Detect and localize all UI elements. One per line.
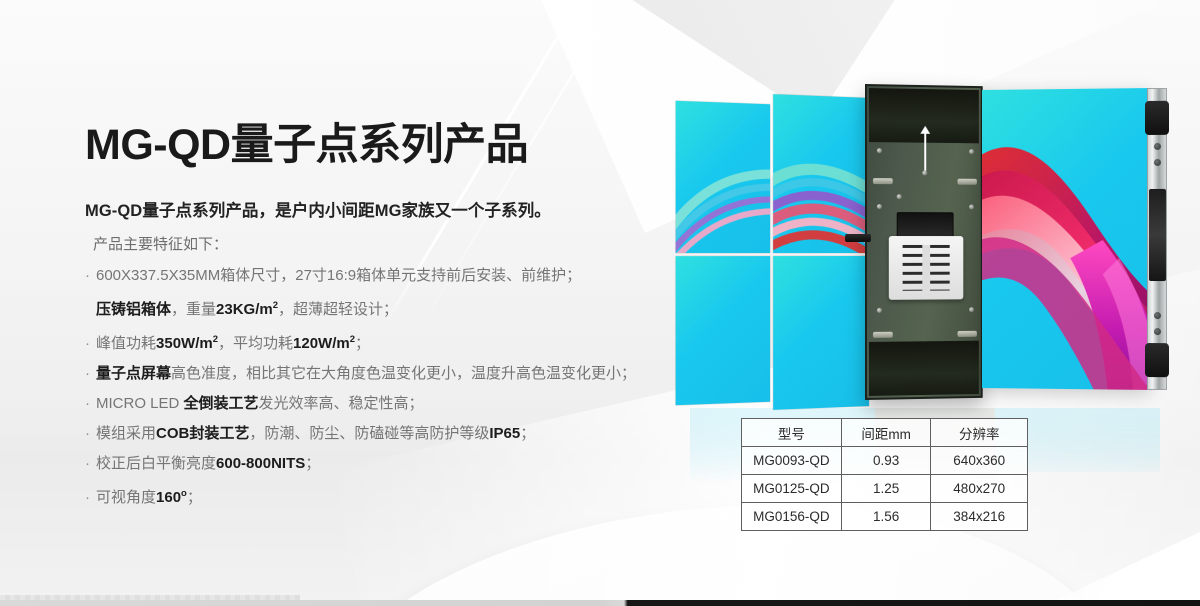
feature-text-emphasis: 全倒装工艺: [184, 395, 259, 412]
page-title: MG-QD量子点系列产品: [85, 124, 745, 167]
feature-item: ·峰值功耗350W/m2，平均功耗120W/m2；: [85, 325, 745, 359]
cell-pitch: 1.25: [841, 475, 931, 503]
cabinet-bottom-rail: [869, 341, 979, 396]
feature-text-plain: ，重量: [171, 301, 216, 318]
feature-text: 600X337.5X35MM箱体尺寸，27寸16:9箱体单元支持前后安装、前维护…: [96, 261, 581, 291]
table-row: MG0125-QD1.25480x270: [742, 475, 1028, 503]
orientation-arrow-icon: [924, 133, 926, 175]
mounting-bracket: [897, 212, 954, 238]
table-header-model: 型号: [742, 419, 842, 447]
spec-table: 型号 间距mm 分辨率 MG0093-QD0.93640x360MG0125-Q…: [741, 418, 1028, 531]
cell-pitch: 0.93: [841, 447, 931, 475]
feature-item: ·量子点屏幕高色准度，相比其它在大角度色温变化更小，温度升高色温变化更小；: [85, 359, 745, 389]
feature-text-plain: ，平均功耗: [218, 335, 293, 352]
feature-text: MICRO LED 全倒装工艺发光效率高、稳定性高；: [96, 389, 424, 419]
feature-text-emphasis: 600-800NITS: [216, 455, 305, 472]
feature-text: 可视角度160o；: [96, 479, 202, 513]
feature-text-plain: MICRO LED: [96, 395, 184, 412]
vent-slots: [903, 245, 950, 291]
cell-model: MG0156-QD: [742, 503, 842, 531]
cell-model: MG0125-QD: [742, 475, 842, 503]
bullet-dot-icon: ·: [85, 359, 96, 389]
led-panel-tile-2: [773, 94, 869, 253]
feature-text-emphasis: 压铸铝箱体: [96, 301, 171, 318]
text-content-block: MG-QD量子点系列产品 MG-QD量子点系列产品，是户内小间距MG家族又一个子…: [85, 124, 745, 513]
cell-resolution: 480x270: [931, 475, 1028, 503]
cabinet-handle: [845, 234, 871, 242]
frame-corner-block-bottom: [1145, 343, 1169, 377]
screen-wave-graphic: [982, 88, 1152, 390]
bullet-dot-icon: ·: [85, 261, 96, 291]
feature-text-plain: 模组采用: [96, 425, 156, 442]
feature-text-plain: 高色准度，相比其它在大角度色温变化更小，温度升高色温变化更小；: [171, 365, 636, 382]
feature-text-plain: 校正后白平衡亮度: [96, 455, 216, 472]
feature-text-plain: ，防潮、防尘、防磕碰等高防护等级: [249, 425, 489, 442]
feature-item: ·600X337.5X35MM箱体尺寸，27寸16:9箱体单元支持前后安装、前维…: [85, 261, 745, 291]
feature-text-emphasis: COB封装工艺: [156, 425, 249, 442]
table-header-row: 型号 间距mm 分辨率: [742, 419, 1028, 447]
feature-text: 压铸铝箱体，重量23KG/m2，超薄超轻设计；: [96, 291, 398, 325]
feature-text: 峰值功耗350W/m2，平均功耗120W/m2；: [96, 325, 370, 359]
power-supply-module: [889, 236, 964, 300]
cabinet-rear-view: [865, 84, 983, 400]
frame-connector-port: [1149, 189, 1166, 281]
bullet-dot-icon: ·: [85, 389, 96, 419]
features-list: ·600X337.5X35MM箱体尺寸，27寸16:9箱体单元支持前后安装、前维…: [85, 261, 745, 513]
bullet-dot-icon: ·: [85, 449, 96, 479]
page-canvas: MG-QD量子点系列产品 MG-QD量子点系列产品，是户内小间距MG家族又一个子…: [0, 0, 1200, 606]
feature-item: ·校正后白平衡亮度600-800NITS；: [85, 449, 745, 479]
led-panel-tile-4: [773, 256, 869, 410]
feature-text-plain: ；: [355, 335, 370, 352]
features-intro: 产品主要特征如下：: [93, 233, 745, 254]
table-header-pitch: 间距mm: [841, 419, 931, 447]
table-header-resolution: 分辨率: [931, 419, 1028, 447]
feature-text: 模组采用COB封装工艺，防潮、防尘、防磕碰等高防护等级IP65；: [96, 419, 535, 449]
feature-text-plain: 可视角度: [96, 489, 156, 506]
page-subtitle: MG-QD量子点系列产品，是户内小间距MG家族又一个子系列。: [85, 197, 745, 221]
cell-model: MG0093-QD: [742, 447, 842, 475]
feature-text-plain: ；: [520, 425, 535, 442]
bullet-dot-icon: ·: [85, 483, 96, 513]
feature-text-plain: ；: [305, 455, 320, 472]
feature-text-plain: ；: [187, 489, 202, 506]
feature-item: ·压铸铝箱体，重量23KG/m2，超薄超轻设计；: [85, 291, 745, 325]
cell-resolution: 384x216: [931, 503, 1028, 531]
table-row: MG0156-QD1.56384x216: [742, 503, 1028, 531]
feature-text: 校正后白平衡亮度600-800NITS；: [96, 449, 320, 479]
bullet-dot-icon: ·: [85, 419, 96, 449]
bullet-dot-icon: ·: [85, 329, 96, 359]
feature-text-emphasis: IP65: [489, 425, 520, 442]
feature-text-plain: 峰值功耗: [96, 335, 156, 352]
feature-text-emphasis: 量子点屏幕: [96, 365, 171, 382]
feature-text-plain: ，超薄超轻设计；: [278, 301, 398, 318]
feature-text-emphasis: 160: [156, 489, 181, 506]
cell-resolution: 640x360: [931, 447, 1028, 475]
frame-corner-block-top: [1145, 101, 1169, 135]
feature-text: 量子点屏幕高色准度，相比其它在大角度色温变化更小，温度升高色温变化更小；: [96, 359, 636, 389]
feature-item: ·MICRO LED 全倒装工艺发光效率高、稳定性高；: [85, 389, 745, 419]
feature-text-plain: 600X337.5X35MM箱体尺寸，27寸16:9箱体单元支持前后安装、前维护…: [96, 267, 581, 284]
feature-text-emphasis: 23KG/m: [216, 301, 273, 318]
feature-item: ·可视角度160o；: [85, 479, 745, 513]
led-display-main-panel: [982, 88, 1152, 390]
bottom-bar: [0, 600, 1200, 606]
feature-item: ·模组采用COB封装工艺，防潮、防尘、防磕碰等高防护等级IP65；: [85, 419, 745, 449]
feature-text-emphasis: 120W/m: [293, 335, 350, 352]
aluminium-frame-profile: [1147, 88, 1167, 390]
table-row: MG0093-QD0.93640x360: [742, 447, 1028, 475]
feature-text-plain: 发光效率高、稳定性高；: [259, 395, 424, 412]
feature-text-emphasis: 350W/m: [156, 335, 213, 352]
cell-pitch: 1.56: [841, 503, 931, 531]
